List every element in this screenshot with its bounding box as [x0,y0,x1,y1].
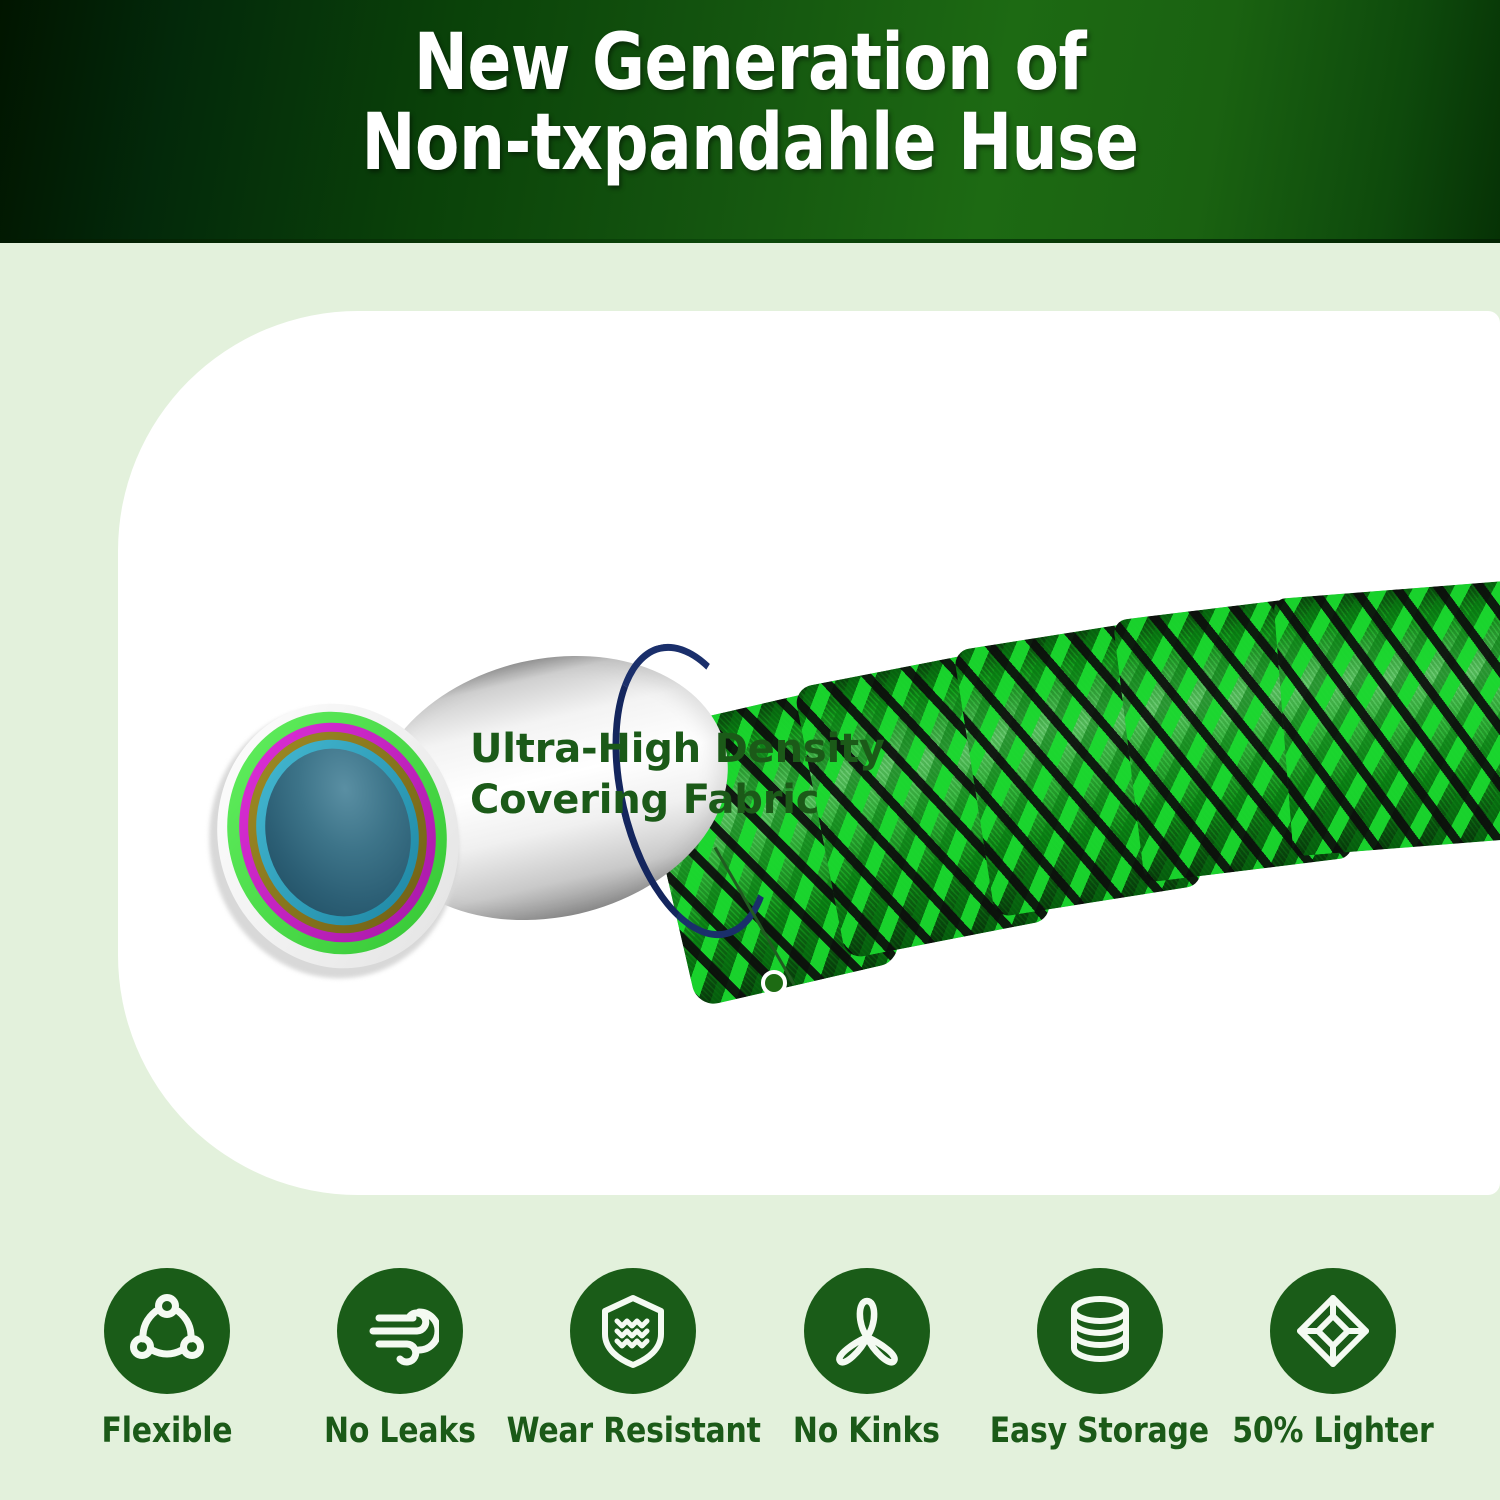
feature-item-no-leaks[interactable]: No Leaks [295,1268,505,1451]
feature-label: No Leaks [324,1411,476,1451]
feature-label: No Kinks [793,1411,940,1451]
feature-item-flexible[interactable]: Flexible [62,1268,272,1451]
header-banner: New Generation of Non-txpandahle Huse [0,0,1500,243]
product-infographic: New Generation of Non-txpandahle Huse Ul… [0,0,1500,1500]
page-title: New Generation of Non-txpandahle Huse [60,24,1440,183]
hose-braid-segment [1273,580,1500,857]
feature-label: Flexible [102,1411,233,1451]
wear-resistant-icon [570,1268,696,1394]
feature-label: Easy Storage [990,1411,1209,1451]
feature-list: Flexible No Leaks [0,1268,1500,1451]
feature-label: Wear Resistant [506,1411,760,1451]
easy-storage-icon [1037,1268,1163,1394]
no-kinks-icon [804,1268,930,1394]
feature-item-wear-resistant[interactable]: Wear Resistant [528,1268,738,1451]
product-image-card: Ultra-High Density Covering Fabric 5-Lay… [118,311,1500,1195]
callout-marker-covering-fabric [761,970,787,996]
feature-label: 50% Lighter [1232,1411,1433,1451]
callout-label-covering-fabric: Ultra-High Density Covering Fabric [470,724,885,826]
feature-item-easy-storage[interactable]: Easy Storage [995,1268,1205,1451]
lighter-icon [1270,1268,1396,1394]
no-leaks-icon [337,1268,463,1394]
feature-item-lighter[interactable]: 50% Lighter [1228,1268,1438,1451]
feature-item-no-kinks[interactable]: No Kinks [762,1268,972,1451]
flexible-icon [104,1268,230,1394]
